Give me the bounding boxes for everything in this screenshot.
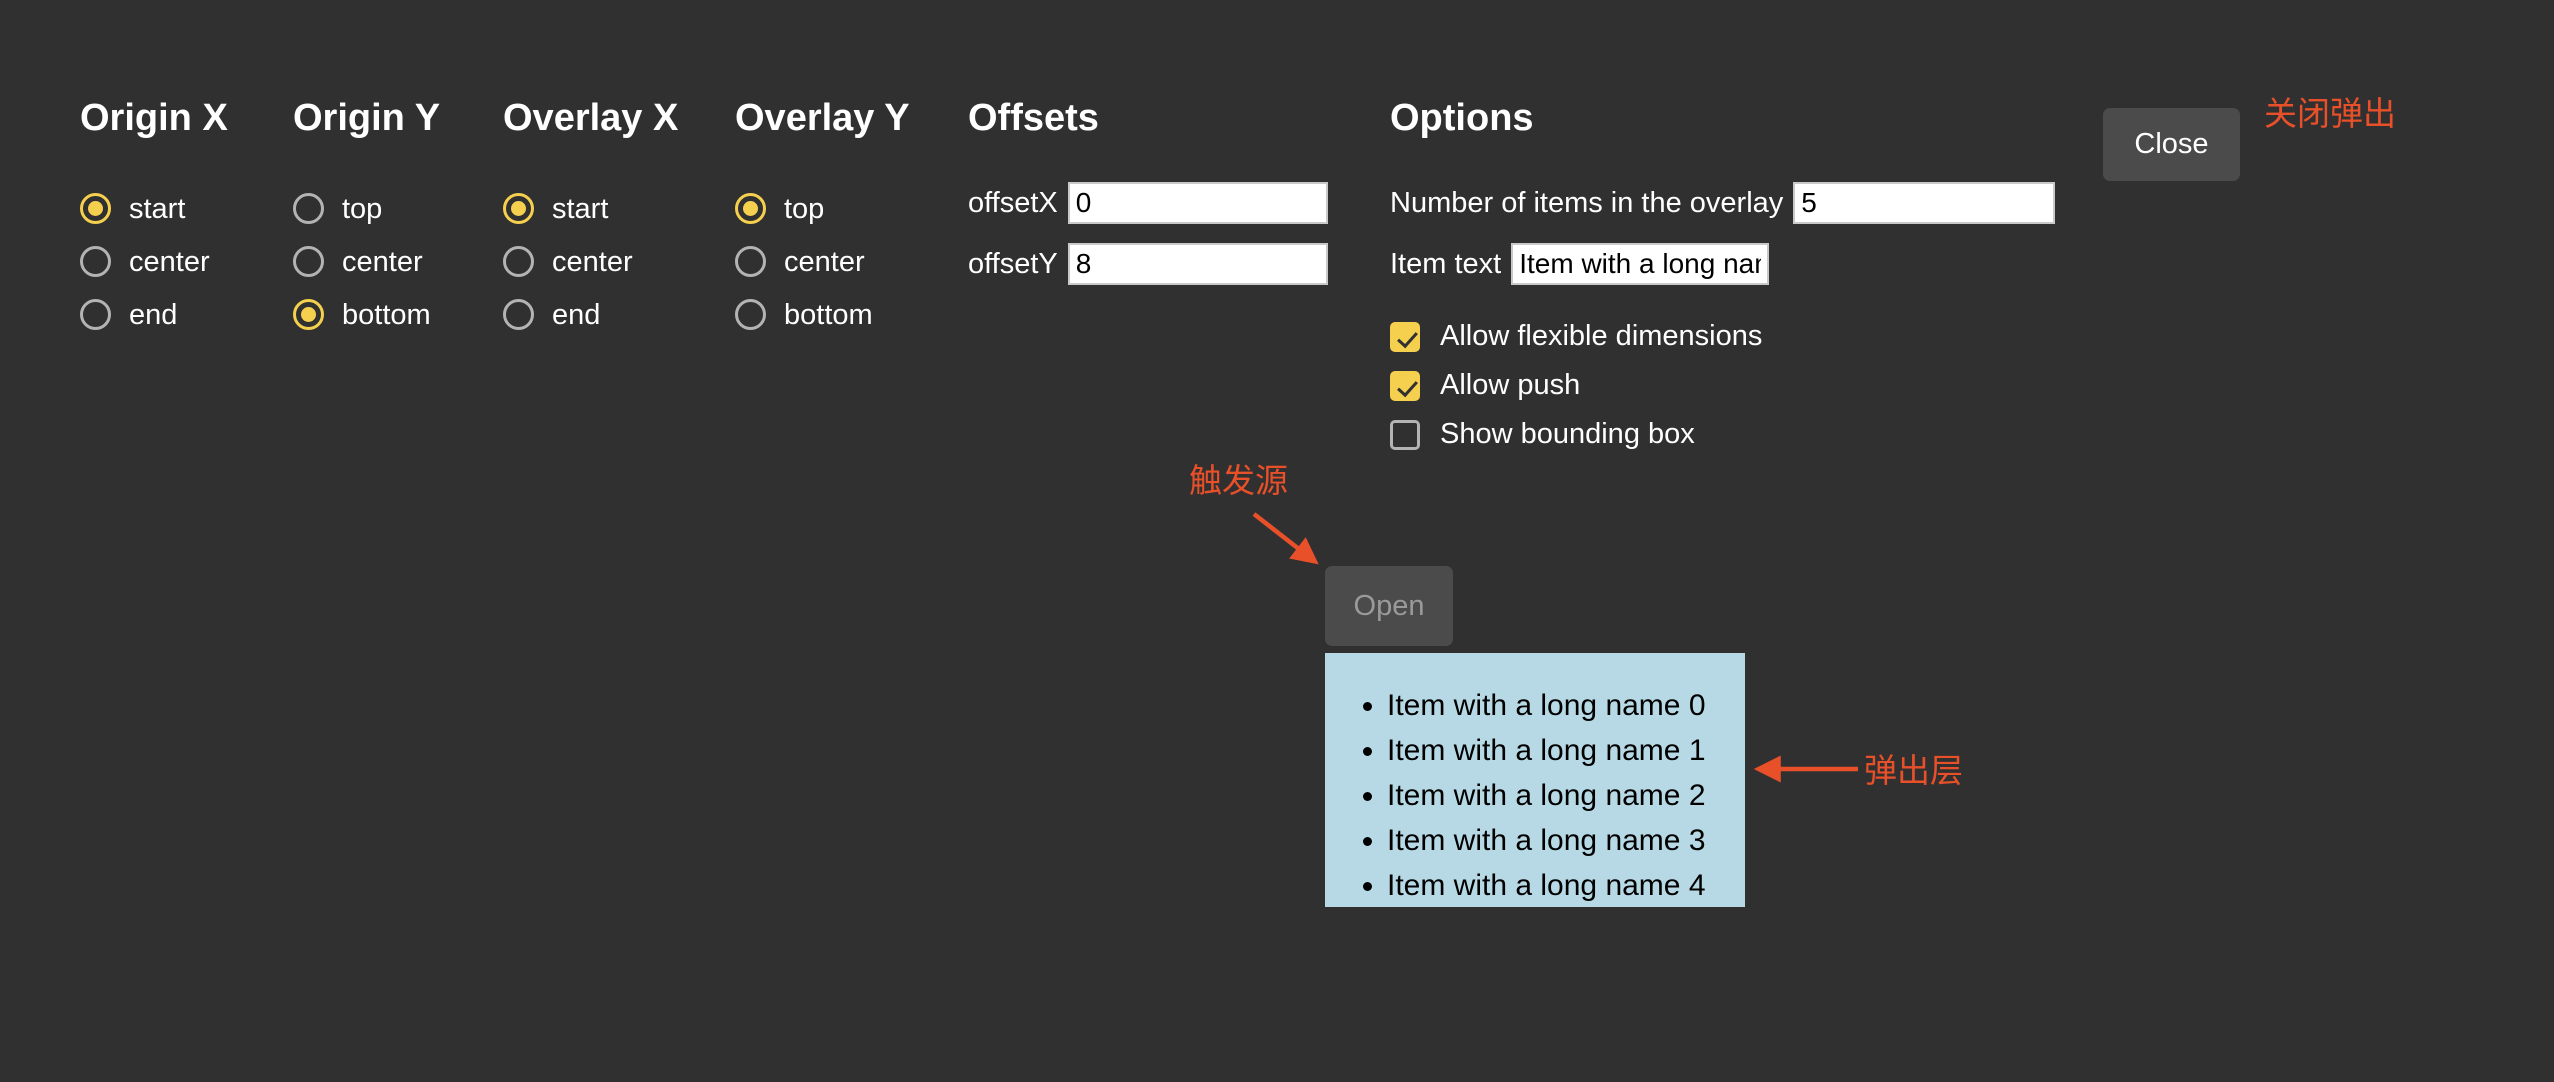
close-button[interactable]: Close <box>2103 108 2240 181</box>
radio-indicator[interactable] <box>503 246 534 277</box>
radio-label: top <box>342 192 382 226</box>
radio-label: center <box>129 245 210 279</box>
options-section: Options Number of items in the overlay I… <box>1390 96 2055 459</box>
offset-x-input[interactable] <box>1068 182 1328 224</box>
num-items-row: Number of items in the overlay <box>1390 182 2055 224</box>
offset-x-row: offsetX <box>968 182 1328 224</box>
column-title-origin-y: Origin Y <box>293 96 440 140</box>
item-text-label: Item text <box>1390 248 1501 281</box>
list-item[interactable]: Item with a long name 3 <box>1387 818 1745 863</box>
offset-x-label: offsetX <box>968 187 1058 220</box>
overlay-item-list: Item with a long name 0 Item with a long… <box>1325 653 1745 907</box>
radio-indicator[interactable] <box>80 193 111 224</box>
checkbox-label: Show bounding box <box>1440 418 1695 451</box>
radio-label: center <box>552 245 633 279</box>
radio-origin-x-end[interactable]: end <box>80 288 228 341</box>
radio-label: bottom <box>342 298 431 332</box>
radio-overlay-x-center[interactable]: center <box>503 235 678 288</box>
column-origin-x: Origin X start center end <box>80 96 228 341</box>
annotation-arrow-to-overlay <box>1750 757 1862 781</box>
radio-overlay-y-bottom[interactable]: bottom <box>735 288 910 341</box>
checkbox-indicator[interactable] <box>1390 371 1420 401</box>
radio-label: center <box>342 245 423 279</box>
radio-label: center <box>784 245 865 279</box>
checkbox-indicator[interactable] <box>1390 322 1420 352</box>
offset-y-input[interactable] <box>1068 243 1328 285</box>
column-title-overlay-y: Overlay Y <box>735 96 910 140</box>
list-item[interactable]: Item with a long name 2 <box>1387 773 1745 818</box>
radio-label: start <box>129 192 185 226</box>
num-items-input[interactable] <box>1793 182 2055 224</box>
options-title: Options <box>1390 96 2055 140</box>
radio-indicator[interactable] <box>735 246 766 277</box>
radio-origin-y-bottom[interactable]: bottom <box>293 288 440 341</box>
offsets-section: Offsets offsetX offsetY <box>968 96 1328 304</box>
radio-indicator[interactable] <box>293 299 324 330</box>
radio-indicator[interactable] <box>735 299 766 330</box>
item-text-row: Item text <box>1390 243 2055 285</box>
radio-origin-x-center[interactable]: center <box>80 235 228 288</box>
item-text-input[interactable] <box>1511 243 1769 285</box>
radio-label: end <box>552 298 600 332</box>
list-item[interactable]: Item with a long name 4 <box>1387 863 1745 907</box>
column-title-overlay-x: Overlay X <box>503 96 678 140</box>
offset-y-label: offsetY <box>968 248 1058 281</box>
radio-indicator[interactable] <box>503 193 534 224</box>
radio-indicator[interactable] <box>293 193 324 224</box>
annotation-trigger-source: 触发源 <box>1189 462 1288 500</box>
radio-indicator[interactable] <box>80 246 111 277</box>
radio-origin-y-center[interactable]: center <box>293 235 440 288</box>
offsets-title: Offsets <box>968 96 1328 140</box>
column-origin-y: Origin Y top center bottom <box>293 96 440 341</box>
radio-label: start <box>552 192 608 226</box>
radio-overlay-x-start[interactable]: start <box>503 182 678 235</box>
overlay-panel: Item with a long name 0 Item with a long… <box>1325 653 1745 907</box>
column-overlay-y: Overlay Y top center bottom <box>735 96 910 341</box>
offset-y-row: offsetY <box>968 243 1328 285</box>
annotation-overlay-layer: 弹出层 <box>1864 752 1963 790</box>
num-items-label: Number of items in the overlay <box>1390 187 1783 220</box>
radio-indicator[interactable] <box>80 299 111 330</box>
radio-origin-y-top[interactable]: top <box>293 182 440 235</box>
checkbox-indicator[interactable] <box>1390 420 1420 450</box>
radio-indicator[interactable] <box>293 246 324 277</box>
checkbox-label: Allow push <box>1440 369 1580 402</box>
radio-origin-x-start[interactable]: start <box>80 182 228 235</box>
radio-label: bottom <box>784 298 873 332</box>
checkbox-allow-flexible-dimensions[interactable]: Allow flexible dimensions <box>1390 312 2055 361</box>
column-overlay-x: Overlay X start center end <box>503 96 678 341</box>
list-item[interactable]: Item with a long name 1 <box>1387 728 1745 773</box>
checkbox-allow-push[interactable]: Allow push <box>1390 361 2055 410</box>
annotation-close-popup: 关闭弹出 <box>2264 95 2396 133</box>
column-title-origin-x: Origin X <box>80 96 228 140</box>
radio-overlay-y-top[interactable]: top <box>735 182 910 235</box>
checkbox-label: Allow flexible dimensions <box>1440 320 1762 353</box>
radio-overlay-y-center[interactable]: center <box>735 235 910 288</box>
radio-overlay-x-end[interactable]: end <box>503 288 678 341</box>
radio-label: top <box>784 192 824 226</box>
checkbox-show-bounding-box[interactable]: Show bounding box <box>1390 410 2055 459</box>
open-button[interactable]: Open <box>1325 566 1453 646</box>
radio-indicator[interactable] <box>503 299 534 330</box>
list-item[interactable]: Item with a long name 0 <box>1387 683 1745 728</box>
radio-label: end <box>129 298 177 332</box>
radio-indicator[interactable] <box>735 193 766 224</box>
annotation-arrow-to-trigger <box>1240 500 1340 580</box>
